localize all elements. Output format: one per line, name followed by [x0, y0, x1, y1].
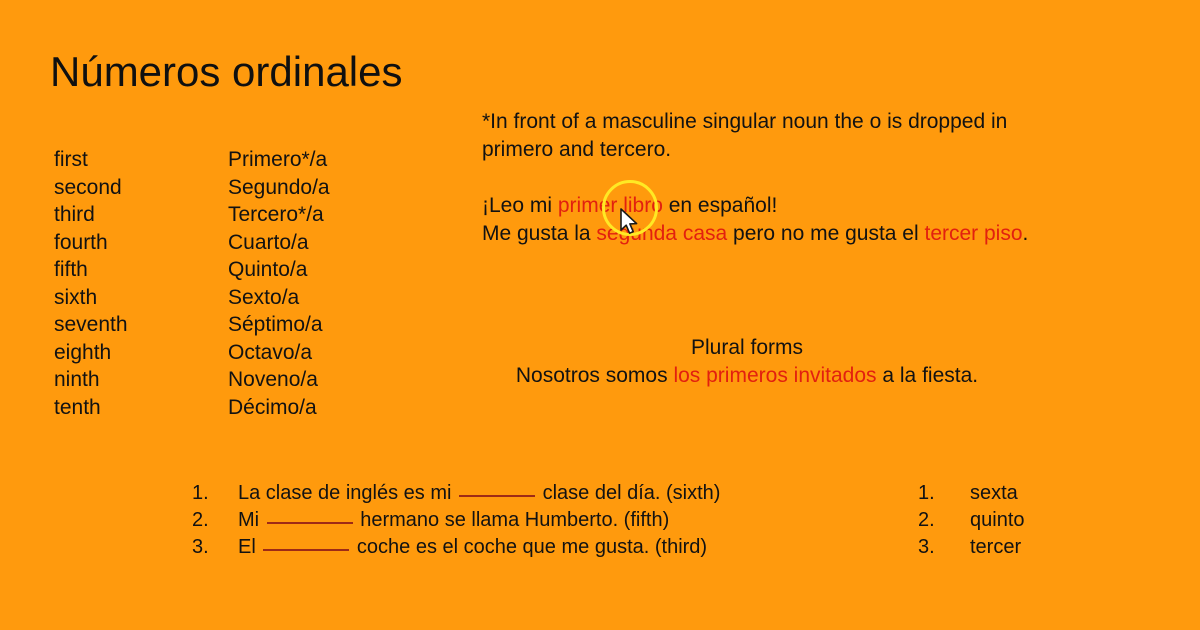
example-sentences: ¡Leo mi primer libro en español! Me gust…: [482, 192, 1182, 248]
example1-highlight: primer libro: [558, 194, 663, 217]
example1-after: en español!: [663, 194, 777, 217]
answer-list: 1.sexta 2.quinto 3.tercer: [918, 480, 1025, 561]
ordinal-english: fourth: [54, 229, 228, 257]
list-item: 3.tercer: [918, 534, 1025, 561]
table-row: firstPrimero*/a: [54, 146, 330, 174]
exercise-list: 1.La clase de inglés es mi clase del día…: [192, 480, 720, 561]
exercise-text: Mi hermano se llama Humberto. (fifth): [238, 507, 669, 534]
ordinal-english: third: [54, 201, 228, 229]
example2-middle: pero no me gusta el: [727, 222, 924, 245]
answer-word: tercer: [970, 534, 1021, 561]
ordinal-english: sixth: [54, 284, 228, 312]
plural-forms-heading: Plural forms: [482, 334, 1012, 362]
plural-before: Nosotros somos: [516, 364, 674, 387]
answer-number: 2.: [918, 507, 970, 534]
table-row: seventhSéptimo/a: [54, 311, 330, 339]
example2-highlight-2: tercer piso: [924, 222, 1022, 245]
list-item: 3.El coche es el coche que me gusta. (th…: [192, 534, 720, 561]
exercise2-before: Mi: [238, 509, 265, 531]
exercise-number: 1.: [192, 480, 238, 507]
exercise3-after: coche es el coche que me gusta. (third): [351, 536, 707, 558]
ordinal-spanish: Séptimo/a: [228, 311, 323, 339]
table-row: fifthQuinto/a: [54, 256, 330, 284]
table-row: fourthCuarto/a: [54, 229, 330, 257]
fill-in-blank[interactable]: [459, 495, 535, 497]
example-line-1: ¡Leo mi primer libro en español!: [482, 192, 1182, 220]
list-item: 1.La clase de inglés es mi clase del día…: [192, 480, 720, 507]
ordinal-english: seventh: [54, 311, 228, 339]
slide-canvas: Números ordinales firstPrimero*/a second…: [0, 0, 1200, 630]
list-item: 1.sexta: [918, 480, 1025, 507]
exercise-number: 2.: [192, 507, 238, 534]
answer-number: 1.: [918, 480, 970, 507]
table-row: thirdTercero*/a: [54, 201, 330, 229]
ordinal-english: tenth: [54, 394, 228, 422]
ordinal-english: second: [54, 174, 228, 202]
ordinals-table: firstPrimero*/a secondSegundo/a thirdTer…: [54, 146, 330, 421]
ordinal-spanish: Octavo/a: [228, 339, 312, 367]
plural-forms-sentence: Nosotros somos los primeros invitados a …: [482, 362, 1012, 390]
fill-in-blank[interactable]: [267, 522, 353, 524]
example-line-2: Me gusta la segunda casa pero no me gust…: [482, 220, 1182, 248]
fill-in-blank[interactable]: [263, 549, 349, 551]
answer-number: 3.: [918, 534, 970, 561]
table-row: ninthNoveno/a: [54, 366, 330, 394]
ordinal-spanish: Quinto/a: [228, 256, 307, 284]
ordinal-english: ninth: [54, 366, 228, 394]
table-row: eighthOctavo/a: [54, 339, 330, 367]
ordinal-english: eighth: [54, 339, 228, 367]
ordinal-spanish: Cuarto/a: [228, 229, 309, 257]
plural-highlight: los primeros invitados: [673, 364, 876, 387]
example1-before: ¡Leo mi: [482, 194, 558, 217]
exercise-text: La clase de inglés es mi clase del día. …: [238, 480, 720, 507]
ordinal-spanish: Sexto/a: [228, 284, 299, 312]
ordinal-spanish: Primero*/a: [228, 146, 327, 174]
ordinal-spanish: Noveno/a: [228, 366, 318, 394]
ordinal-spanish: Segundo/a: [228, 174, 330, 202]
exercise3-before: El: [238, 536, 261, 558]
ordinal-spanish: Tercero*/a: [228, 201, 324, 229]
page-title: Números ordinales: [50, 48, 403, 96]
exercise2-after: hermano se llama Humberto. (fifth): [355, 509, 670, 531]
table-row: secondSegundo/a: [54, 174, 330, 202]
example2-after: .: [1023, 222, 1029, 245]
example2-highlight-1: segunda casa: [596, 222, 727, 245]
ordinal-english: first: [54, 146, 228, 174]
table-row: sixthSexto/a: [54, 284, 330, 312]
table-row: tenthDécimo/a: [54, 394, 330, 422]
list-item: 2.quinto: [918, 507, 1025, 534]
exercise1-after: clase del día. (sixth): [537, 482, 720, 504]
ordinal-spanish: Décimo/a: [228, 394, 317, 422]
grammar-note: *In front of a masculine singular noun t…: [482, 108, 1082, 164]
exercise1-before: La clase de inglés es mi: [238, 482, 457, 504]
plural-forms-block: Plural forms Nosotros somos los primeros…: [482, 334, 1012, 390]
exercise-number: 3.: [192, 534, 238, 561]
ordinal-english: fifth: [54, 256, 228, 284]
example2-before: Me gusta la: [482, 222, 596, 245]
answer-word: sexta: [970, 480, 1018, 507]
exercise-text: El coche es el coche que me gusta. (thir…: [238, 534, 707, 561]
plural-after: a la fiesta.: [877, 364, 979, 387]
list-item: 2.Mi hermano se llama Humberto. (fifth): [192, 507, 720, 534]
answer-word: quinto: [970, 507, 1025, 534]
